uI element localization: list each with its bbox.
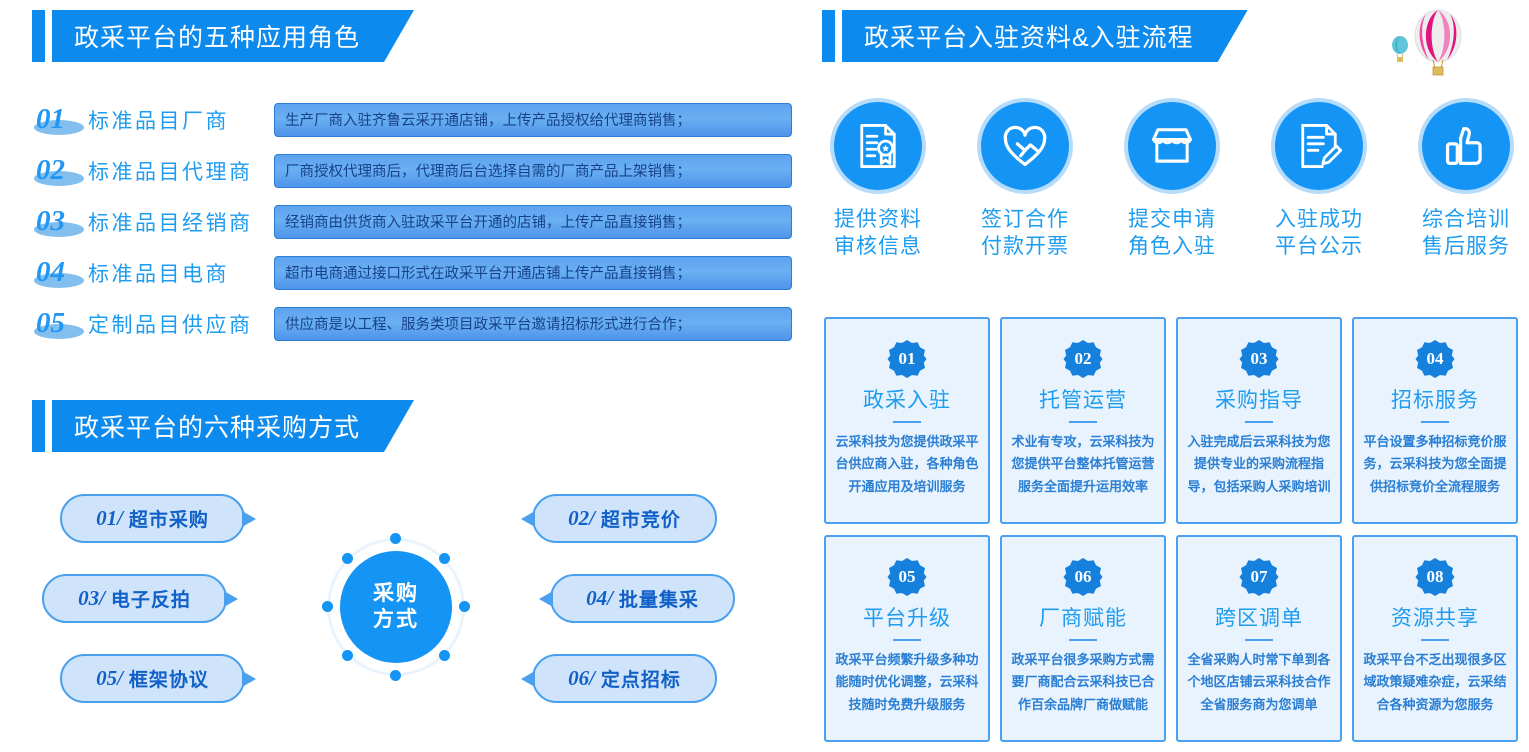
step-caption-line1: 提供资料 (834, 207, 922, 234)
method-index: 03/ (78, 586, 105, 611)
method-label: 超市采购 (129, 505, 209, 532)
core-dot (390, 533, 401, 544)
role-name: 定制品目供应商 (88, 309, 274, 339)
role-row: 03 标准品目经销商 经销商由供货商入驻政采平台开通的店铺，上传产品直接销售； (32, 196, 792, 247)
card-description: 政采平台频繁升级多种功能随时优化调整，云采科技随时免费升级服务 (826, 649, 988, 716)
step-caption-line1: 签订合作 (981, 207, 1069, 234)
header-accent-bar (822, 10, 835, 62)
core-dot (342, 553, 353, 564)
method-bubble-04[interactable]: 04/ 批量集采 (550, 574, 735, 623)
method-label: 超市竞价 (601, 505, 681, 532)
onboarding-steps-row: 提供资料 审核信息 签订合作 付款开票 (822, 98, 1522, 261)
role-description: 超市电商通过接口形式在政采平台开通店铺上传产品直接销售； (274, 256, 792, 290)
card-divider (893, 639, 921, 641)
role-name: 标准品目电商 (88, 258, 274, 288)
card-divider (1421, 421, 1449, 423)
step-item-2[interactable]: 签订合作 付款开票 (969, 98, 1081, 261)
role-name: 标准品目经销商 (88, 207, 274, 237)
service-card-03[interactable]: 03 采购指导 入驻完成后云采科技为您提供专业的采购流程指导，包括采购人采购培训 (1176, 317, 1342, 524)
method-bubble-05[interactable]: 05/ 框架协议 (60, 654, 245, 703)
method-label: 批量集采 (619, 585, 699, 612)
method-label: 电子反拍 (111, 585, 191, 612)
method-index: 04/ (586, 586, 613, 611)
step-caption-line2: 角色入驻 (1128, 234, 1216, 261)
service-card-07[interactable]: 07 跨区调单 全省采购人时常下单到各个地区店铺云采科技合作全省服务商为您调单 (1176, 535, 1342, 742)
step-caption-1: 提供资料 审核信息 (834, 207, 922, 261)
core-dot (342, 650, 353, 661)
service-card-08[interactable]: 08 资源共享 政采平台不乏出现很多区域政策疑难杂症，云采结合各种资源为您服务 (1352, 535, 1518, 742)
roles-section-header: 政采平台的五种应用角色 (32, 10, 414, 62)
role-row: 05 定制品目供应商 供应商是以工程、服务类项目政采平台邀请招标形式进行合作； (32, 298, 792, 349)
role-row: 04 标准品目电商 超市电商通过接口形式在政采平台开通店铺上传产品直接销售； (32, 247, 792, 298)
step-caption-line2: 平台公示 (1275, 234, 1363, 261)
card-number: 08 (1427, 567, 1444, 587)
role-row: 02 标准品目代理商 厂商授权代理商后，代理商后台选择自需的厂商产品上架销售； (32, 145, 792, 196)
card-badge-icon: 06 (1063, 557, 1103, 597)
card-title: 平台升级 (863, 602, 951, 632)
role-number: 02 (32, 154, 88, 187)
method-index: 02/ (568, 506, 595, 531)
card-divider (1421, 639, 1449, 641)
card-title: 资源共享 (1391, 602, 1479, 632)
card-number: 06 (1075, 567, 1092, 587)
service-card-04[interactable]: 04 招标服务 平台设置多种招标竞价服务，云采科技为您全面提供招标竞价全流程服务 (1352, 317, 1518, 524)
service-card-02[interactable]: 02 托管运营 术业有专攻，云采科技为您提供平台整体托管运营服务全面提升运用效率 (1000, 317, 1166, 524)
card-badge-icon: 04 (1415, 339, 1455, 379)
step-caption-3: 提交申请 角色入驻 (1128, 207, 1216, 261)
step-caption-5: 综合培训 售后服务 (1422, 207, 1510, 261)
card-badge-icon: 05 (887, 557, 927, 597)
card-title: 厂商赋能 (1039, 602, 1127, 632)
step-caption-line1: 入驻成功 (1275, 207, 1363, 234)
role-name: 标准品目厂商 (88, 105, 274, 135)
methods-header-title: 政采平台的六种采购方式 (52, 400, 414, 452)
step-item-5[interactable]: 综合培训 售后服务 (1410, 98, 1522, 261)
card-title: 跨区调单 (1215, 602, 1303, 632)
core-label-line2: 方式 (373, 607, 419, 633)
core-disc: 采购 方式 (340, 551, 452, 663)
card-badge-icon: 07 (1239, 557, 1279, 597)
role-description: 经销商由供货商入驻政采平台开通的店铺，上传产品直接销售； (274, 205, 792, 239)
procurement-methods-diagram: 01/ 超市采购 03/ 电子反拍 05/ 框架协议 02/ 超市竞价 04/ … (42, 492, 787, 720)
thumbs-up-icon (1418, 98, 1514, 194)
step-item-1[interactable]: 提供资料 审核信息 (822, 98, 934, 261)
card-title: 招标服务 (1391, 384, 1479, 414)
card-number: 03 (1251, 349, 1268, 369)
step-caption-4: 入驻成功 平台公示 (1275, 207, 1363, 261)
card-divider (893, 421, 921, 423)
step-caption-line1: 提交申请 (1128, 207, 1216, 234)
method-label: 定点招标 (601, 665, 681, 692)
core-dot (390, 670, 401, 681)
card-number: 01 (899, 349, 916, 369)
onboarding-header-title: 政采平台入驻资料&入驻流程 (842, 10, 1248, 62)
card-badge-icon: 08 (1415, 557, 1455, 597)
card-number: 02 (1075, 349, 1092, 369)
role-number: 03 (32, 205, 88, 238)
card-description: 政采平台很多采购方式需要厂商配合云采科技已合作百余品牌厂商做赋能 (1002, 649, 1164, 716)
core-dot (439, 553, 450, 564)
service-cards-grid: 01 政采入驻 云采科技为您提供政采平台供应商入驻，各种角色开通应用及培训服务 … (824, 317, 1518, 742)
core-dot (322, 601, 333, 612)
storefront-icon (1124, 98, 1220, 194)
methods-section-header: 政采平台的六种采购方式 (32, 400, 414, 452)
role-description: 生产厂商入驻齐鲁云采开通店铺，上传产品授权给代理商销售； (274, 103, 792, 137)
document-edit-icon (1271, 98, 1367, 194)
card-divider (1245, 421, 1273, 423)
hot-air-balloon-icon (1390, 8, 1490, 78)
core-dot (459, 601, 470, 612)
step-caption-line1: 综合培训 (1422, 207, 1510, 234)
role-number: 01 (32, 103, 88, 136)
role-description: 厂商授权代理商后，代理商后台选择自需的厂商产品上架销售； (274, 154, 792, 188)
header-accent-bar (32, 10, 45, 62)
method-index: 01/ (96, 506, 123, 531)
core-label-line1: 采购 (373, 581, 419, 607)
card-divider (1245, 639, 1273, 641)
handshake-heart-icon (977, 98, 1073, 194)
role-number: 05 (32, 307, 88, 340)
onboarding-section-header: 政采平台入驻资料&入驻流程 (822, 10, 1248, 62)
card-number: 07 (1251, 567, 1268, 587)
method-bubble-06[interactable]: 06/ 定点招标 (532, 654, 717, 703)
service-card-05[interactable]: 05 平台升级 政采平台频繁升级多种功能随时优化调整，云采科技随时免费升级服务 (824, 535, 990, 742)
core-dot (439, 650, 450, 661)
step-item-4[interactable]: 入驻成功 平台公示 (1263, 98, 1375, 261)
method-bubble-03[interactable]: 03/ 电子反拍 (42, 574, 227, 623)
card-divider (1069, 639, 1097, 641)
step-caption-2: 签订合作 付款开票 (981, 207, 1069, 261)
card-description: 平台设置多种招标竞价服务，云采科技为您全面提供招标竞价全流程服务 (1354, 431, 1516, 498)
method-label: 框架协议 (129, 665, 209, 692)
card-badge-icon: 01 (887, 339, 927, 379)
card-number: 05 (899, 567, 916, 587)
role-number: 04 (32, 256, 88, 289)
step-caption-line2: 付款开票 (981, 234, 1069, 261)
service-card-01[interactable]: 01 政采入驻 云采科技为您提供政采平台供应商入驻，各种角色开通应用及培训服务 (824, 317, 990, 524)
procurement-core-circle: 采购 方式 (327, 538, 465, 676)
application-roles-list: 01 标准品目厂商 生产厂商入驻齐鲁云采开通店铺，上传产品授权给代理商销售； 0… (32, 94, 792, 349)
infographic-page: 政采平台的五种应用角色 01 标准品目厂商 生产厂商入驻齐鲁云采开通店铺，上传产… (0, 0, 1529, 752)
card-title: 政采入驻 (863, 384, 951, 414)
method-index: 05/ (96, 666, 123, 691)
card-title: 采购指导 (1215, 384, 1303, 414)
method-index: 06/ (568, 666, 595, 691)
step-item-3[interactable]: 提交申请 角色入驻 (1116, 98, 1228, 261)
header-accent-bar (32, 400, 45, 452)
role-row: 01 标准品目厂商 生产厂商入驻齐鲁云采开通店铺，上传产品授权给代理商销售； (32, 94, 792, 145)
step-caption-line2: 审核信息 (834, 234, 922, 261)
role-name: 标准品目代理商 (88, 156, 274, 186)
card-title: 托管运营 (1039, 384, 1127, 414)
method-bubble-02[interactable]: 02/ 超市竞价 (532, 494, 717, 543)
service-card-06[interactable]: 06 厂商赋能 政采平台很多采购方式需要厂商配合云采科技已合作百余品牌厂商做赋能 (1000, 535, 1166, 742)
certificate-icon (830, 98, 926, 194)
card-badge-icon: 02 (1063, 339, 1103, 379)
role-description: 供应商是以工程、服务类项目政采平台邀请招标形式进行合作； (274, 307, 792, 341)
card-divider (1069, 421, 1097, 423)
card-description: 入驻完成后云采科技为您提供专业的采购流程指导，包括采购人采购培训 (1178, 431, 1340, 498)
step-caption-line2: 售后服务 (1422, 234, 1510, 261)
card-description: 术业有专攻，云采科技为您提供平台整体托管运营服务全面提升运用效率 (1002, 431, 1164, 498)
card-number: 04 (1427, 349, 1444, 369)
roles-header-title: 政采平台的五种应用角色 (52, 10, 414, 62)
card-badge-icon: 03 (1239, 339, 1279, 379)
card-description: 政采平台不乏出现很多区域政策疑难杂症，云采结合各种资源为您服务 (1354, 649, 1516, 716)
card-description: 云采科技为您提供政采平台供应商入驻，各种角色开通应用及培训服务 (826, 431, 988, 498)
card-description: 全省采购人时常下单到各个地区店铺云采科技合作全省服务商为您调单 (1178, 649, 1340, 716)
method-bubble-01[interactable]: 01/ 超市采购 (60, 494, 245, 543)
